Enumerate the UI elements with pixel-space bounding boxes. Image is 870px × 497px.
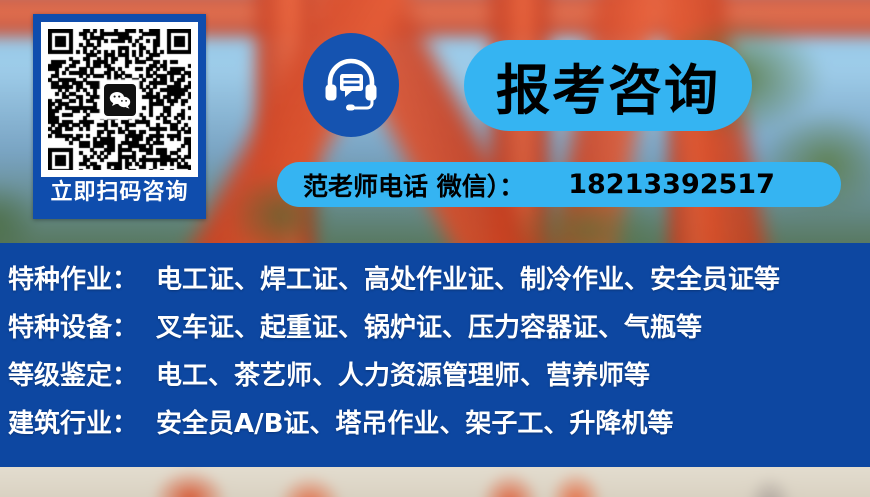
qr-caption: 立即扫码咨询 bbox=[37, 173, 202, 213]
construction-site-photo bbox=[0, 467, 870, 497]
category-value: 电工、茶艺师、人力资源管理师、营养师等 bbox=[156, 355, 650, 392]
category-label: 等级鉴定： bbox=[8, 355, 156, 392]
title-pill: 报考咨询 bbox=[464, 40, 752, 131]
category-value: 电工证、焊工证、高处作业证、制冷作业、安全员证等 bbox=[156, 259, 780, 296]
bottom-photo-strip bbox=[0, 467, 870, 497]
category-row-grade-appraisal: 等级鉴定： 电工、茶艺师、人力资源管理师、营养师等 bbox=[8, 355, 870, 403]
promotional-poster: 立即扫码咨询 报考咨询 范老师电话 微信）： 18213392517 特种作业：… bbox=[0, 0, 870, 497]
headset-support-icon bbox=[303, 33, 399, 137]
category-list-panel: 特种作业： 电工证、焊工证、高处作业证、制冷作业、安全员证等 特种设备： 叉车证… bbox=[0, 243, 870, 467]
category-label: 特种设备： bbox=[8, 307, 156, 344]
page-title: 报考咨询 bbox=[496, 46, 720, 125]
contact-label: 范老师电话 微信）： bbox=[303, 167, 524, 203]
wechat-icon bbox=[104, 84, 136, 116]
contact-phone-pill[interactable]: 范老师电话 微信）： 18213392517 bbox=[277, 162, 841, 207]
category-value: 叉车证、起重证、锅炉证、压力容器证、气瓶等 bbox=[156, 307, 702, 344]
category-value: 安全员A/B证、塔吊作业、架子工、升降机等 bbox=[156, 403, 673, 440]
category-row-special-equipment: 特种设备： 叉车证、起重证、锅炉证、压力容器证、气瓶等 bbox=[8, 307, 870, 355]
category-row-construction-industry: 建筑行业： 安全员A/B证、塔吊作业、架子工、升降机等 bbox=[8, 403, 870, 451]
category-label: 特种作业： bbox=[8, 259, 156, 296]
qr-code-card[interactable]: 立即扫码咨询 bbox=[33, 14, 206, 219]
category-row-special-operations: 特种作业： 电工证、焊工证、高处作业证、制冷作业、安全员证等 bbox=[8, 259, 870, 307]
contact-phone-number[interactable]: 18213392517 bbox=[568, 169, 775, 200]
category-label: 建筑行业： bbox=[8, 403, 156, 440]
qr-code-area[interactable] bbox=[41, 22, 198, 177]
